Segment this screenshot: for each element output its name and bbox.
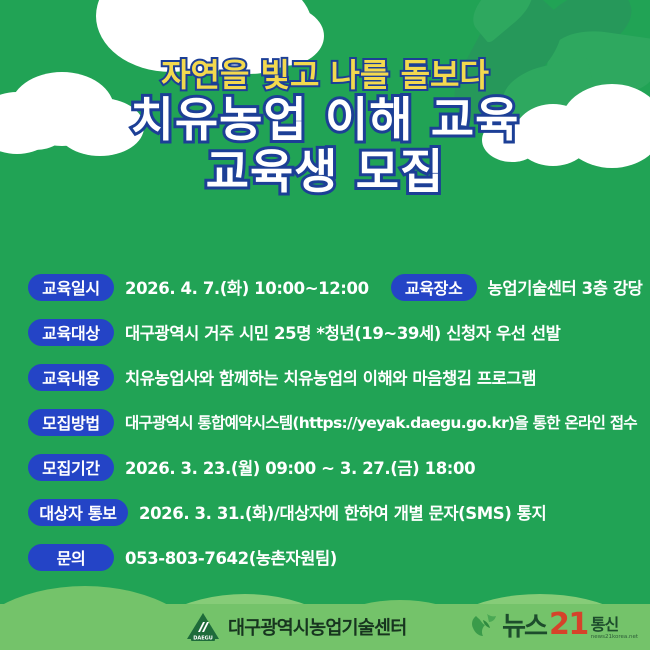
- poster-subtitle: 자연을 빛고 나를 돌보다: [0, 58, 650, 93]
- info-row-notification: 대상자 통보 2026. 3. 31.(화)/대상자에 한하여 개별 문자(SM…: [28, 497, 630, 527]
- news21-url: news21korea.net: [591, 635, 638, 641]
- value-contact: 053-803-7642(농촌자원팀): [125, 545, 337, 569]
- news21-korean-text: 뉴스: [502, 614, 546, 640]
- poster-title-line2: 교육생 모집: [0, 147, 650, 200]
- value-apply-period: 2026. 3. 23.(월) 09:00 ~ 3. 27.(금) 18:00: [125, 455, 475, 479]
- info-row-education-datetime: 교육일시 2026. 4. 7.(화) 10:00~12:00 교육장소 농업기…: [28, 272, 630, 302]
- value-education-target: 대구광역시 거주 시민 25명 *청년(19~39세) 신청자 우선 선발: [125, 320, 560, 344]
- value-education-location: 농업기술센터 3층 강당: [488, 275, 643, 299]
- label-notification: 대상자 통보: [28, 499, 128, 526]
- bush-shape: [0, 586, 210, 650]
- poster-title-line1: 치유농업 이해 교육: [0, 95, 650, 148]
- leaf-icon: [463, 0, 542, 44]
- news21-number: 21: [549, 610, 588, 640]
- news21-suffix: 통신: [591, 617, 638, 633]
- organization-name: 대구광역시농업기술센터: [228, 614, 406, 640]
- value-apply-method[interactable]: 대구광역시 통합예약시스템(https://yeyak.daegu.go.kr)…: [125, 411, 637, 433]
- svg-text:DAEGU: DAEGU: [193, 636, 213, 642]
- info-row-contact: 문의 053-803-7642(농촌자원팀): [28, 542, 630, 572]
- organization-logo-block: DAEGU 대구광역시농업기술센터: [186, 612, 406, 642]
- label-contact: 문의: [28, 544, 114, 571]
- poster-root: 자연을 빛고 나를 돌보다 치유농업 이해 교육 교육생 모집 교육일시 202…: [0, 0, 650, 650]
- news21-logo[interactable]: 뉴스 21 통신 news21korea.net: [469, 610, 638, 640]
- info-row-apply-period: 모집기간 2026. 3. 23.(월) 09:00 ~ 3. 27.(금) 1…: [28, 452, 630, 482]
- daegu-triangle-icon: DAEGU: [186, 612, 220, 642]
- info-row-education-target: 교육대상 대구광역시 거주 시민 25명 *청년(19~39세) 신청자 우선 …: [28, 317, 630, 347]
- title-block: 자연을 빛고 나를 돌보다 치유농업 이해 교육 교육생 모집: [0, 58, 650, 200]
- news21-suffix-block: 통신 news21korea.net: [591, 617, 638, 641]
- info-row-apply-method: 모집방법 대구광역시 통합예약시스템(https://yeyak.daegu.g…: [28, 407, 630, 437]
- cloud-shape: [110, 12, 180, 58]
- label-apply-method: 모집방법: [28, 409, 114, 436]
- value-education-content: 치유농업사와 함께하는 치유농업의 이해와 마음챙김 프로그램: [125, 365, 536, 389]
- label-education-target: 교육대상: [28, 319, 114, 346]
- korea-map-icon: [469, 612, 499, 640]
- value-education-datetime: 2026. 4. 7.(화) 10:00~12:00: [125, 275, 369, 299]
- label-education-content: 교육내용: [28, 364, 114, 391]
- info-rows: 교육일시 2026. 4. 7.(화) 10:00~12:00 교육장소 농업기…: [28, 272, 630, 587]
- bush-shape: [66, 616, 196, 650]
- label-education-datetime: 교육일시: [28, 274, 114, 301]
- value-notification: 2026. 3. 31.(화)/대상자에 한하여 개별 문자(SMS) 통지: [139, 500, 546, 524]
- label-apply-period: 모집기간: [28, 454, 114, 481]
- info-row-education-content: 교육내용 치유농업사와 함께하는 치유농업의 이해와 마음챙김 프로그램: [28, 362, 630, 392]
- label-education-location: 교육장소: [391, 274, 477, 301]
